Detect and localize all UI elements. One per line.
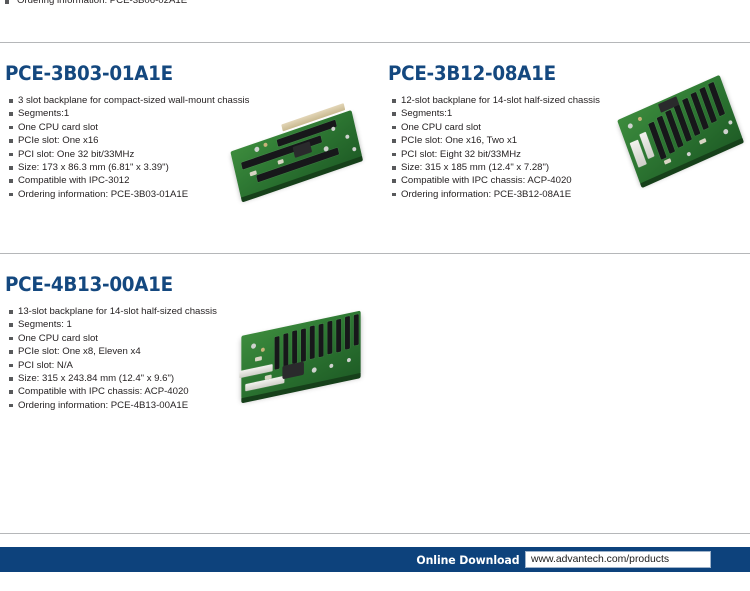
spec-text: One CPU card slot	[18, 333, 98, 344]
bullet-square-icon	[9, 99, 13, 103]
bullet-square-icon	[9, 404, 13, 408]
bullet-square-icon	[392, 153, 396, 157]
spec-text: One CPU card slot	[18, 122, 98, 133]
bullet-square-icon	[392, 99, 396, 103]
spec-text: Segments:1	[18, 108, 69, 119]
spec-text: Compatible with IPC-3012	[18, 175, 129, 186]
bullet-square-icon	[9, 126, 13, 130]
section-divider-bottom	[0, 533, 750, 534]
bullet-square-icon	[392, 179, 396, 183]
product-image-pce-4b13-00a1e	[226, 302, 376, 414]
spec-text: Size: 173 x 86.3 mm (6.81" x 3.39")	[18, 162, 169, 173]
footer-url-field[interactable]: www.advantech.com/products	[525, 551, 711, 568]
bullet-square-icon	[9, 390, 13, 394]
bullet-square-icon	[9, 310, 13, 314]
bullet-square-icon	[392, 193, 396, 197]
online-download-label: Online Download	[416, 553, 519, 567]
product-image-pce-3b03-01a1e	[218, 92, 376, 214]
spec-text: Ordering information: PCE-3B03-01A1E	[18, 189, 188, 200]
bullet-square-icon	[392, 166, 396, 170]
spec-text: One CPU card slot	[401, 122, 481, 133]
spec-text: PCIe slot: One x16, Two x1	[401, 135, 517, 146]
spec-text: Ordering information: PCE-3B12-08A1E	[401, 189, 571, 200]
spec-text: PCIe slot: One x8, Eleven x4	[18, 346, 141, 357]
bullet-square-icon	[392, 112, 396, 116]
clipped-top-line: Ordering information: PCE-3B06-02A1E	[0, 0, 750, 9]
bullet-square-icon	[9, 166, 13, 170]
spec-text: 13-slot backplane for 14-slot half-sized…	[18, 306, 217, 317]
bullet-square-icon	[9, 364, 13, 368]
product-image-pce-3b12-08a1e	[608, 70, 750, 190]
spec-text: Segments:1	[401, 108, 452, 119]
bullet-square-icon	[9, 153, 13, 157]
bullet-square-icon	[9, 377, 13, 381]
spec-text: 12-slot backplane for 14-slot half-sized…	[401, 95, 600, 106]
bullet-square-icon	[9, 193, 13, 197]
spec-text: Segments: 1	[18, 319, 72, 330]
spec-text: Size: 315 x 185 mm (12.4" x 7.28")	[401, 162, 549, 173]
clipped-top-line-text: Ordering information: PCE-3B06-02A1E	[17, 0, 187, 7]
spec-text: Ordering information: PCE-4B13-00A1E	[18, 400, 188, 411]
spec-text: 3 slot backplane for compact-sized wall-…	[18, 95, 249, 106]
section-divider-middle	[0, 253, 750, 254]
bullet-square-icon	[5, 0, 9, 4]
bullet-square-icon	[9, 112, 13, 116]
spec-text: PCI slot: Eight 32 bit/33MHz	[401, 149, 521, 160]
bullet-square-icon	[9, 337, 13, 341]
spec-text: PCIe slot: One x16	[18, 135, 99, 146]
product-title: PCE-4B13-00A1E	[5, 273, 343, 296]
spec-text: Size: 315 x 243.84 mm (12.4" x 9.6")	[18, 373, 174, 384]
footer-bar: Online Download www.advantech.com/produc…	[0, 547, 750, 572]
spec-text: PCI slot: N/A	[18, 360, 73, 371]
bullet-square-icon	[9, 139, 13, 143]
spec-text: Compatible with IPC chassis: ACP-4020	[18, 386, 189, 397]
bullet-square-icon	[392, 126, 396, 130]
product-title: PCE-3B03-01A1E	[5, 62, 343, 85]
section-divider-top	[0, 42, 750, 43]
bullet-square-icon	[9, 350, 13, 354]
spec-text: Compatible with IPC chassis: ACP-4020	[401, 175, 572, 186]
bullet-square-icon	[9, 323, 13, 327]
spec-text: PCI slot: One 32 bit/33MHz	[18, 149, 134, 160]
bullet-square-icon	[9, 179, 13, 183]
bullet-square-icon	[392, 139, 396, 143]
footer-url-text: www.advantech.com/products	[531, 554, 669, 566]
